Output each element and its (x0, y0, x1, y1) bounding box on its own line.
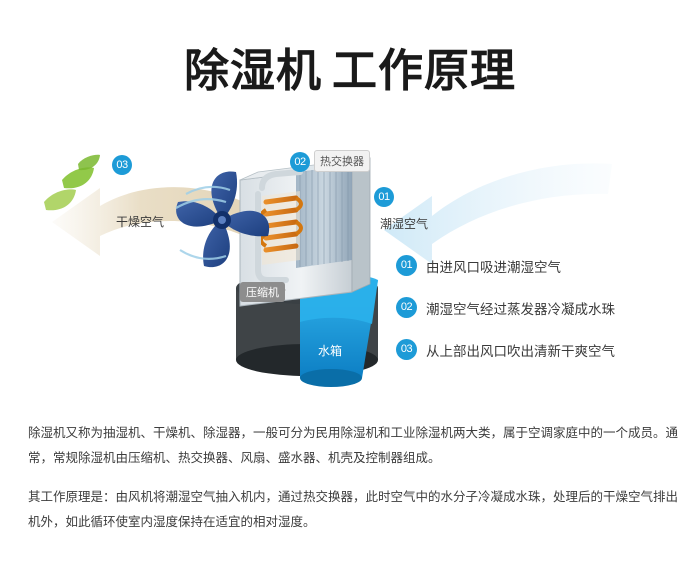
title-main: 除湿机 (184, 44, 322, 97)
step-badge-03: 03 (396, 339, 417, 360)
heat-exchanger (296, 160, 360, 268)
badge-03: 03 (112, 155, 132, 175)
page-title: 除湿机工作原理 (0, 34, 700, 99)
badge-02: 02 (290, 152, 310, 172)
label-compressor: 压缩机 (240, 282, 285, 302)
humid-air-arrow (384, 163, 612, 264)
step-badge-01: 01 (396, 255, 417, 276)
badge-01: 01 (374, 187, 394, 207)
title-sub: 工作原理 (332, 44, 516, 97)
paragraph-2: 其工作原理是：由风机将潮湿空气抽入机内，通过热交换器，此时空气中的水分子冷凝成水… (28, 484, 678, 534)
step-text-03: 从上部出风口吹出清新干爽空气 (426, 340, 615, 360)
paragraph-1: 除湿机又称为抽湿机、干燥机、除湿器，一般可分为民用除湿机和工业除湿机两大类，属于… (28, 420, 678, 470)
list-item: 01 由进风口吸进潮湿空气 (396, 255, 686, 276)
list-item: 02 潮湿空气经过蒸发器冷凝成水珠 (396, 297, 686, 318)
page-root: 除湿机工作原理 (0, 0, 700, 566)
step-list: 01 由进风口吸进潮湿空气 02 潮湿空气经过蒸发器冷凝成水珠 03 从上部出风… (396, 255, 686, 381)
label-heat-exchanger: 热交换器 (314, 150, 370, 172)
list-item: 03 从上部出风口吹出清新干爽空气 (396, 339, 686, 360)
step-text-01: 由进风口吸进潮湿空气 (426, 256, 561, 276)
label-dry-air: 干燥空气 (116, 213, 164, 230)
label-humid-air: 潮湿空气 (380, 215, 428, 232)
step-text-02: 潮湿空气经过蒸发器冷凝成水珠 (426, 298, 615, 318)
step-badge-02: 02 (396, 297, 417, 318)
label-water-tank: 水箱 (318, 342, 342, 359)
description-block: 除湿机又称为抽湿机、干燥机、除湿器，一般可分为民用除湿机和工业除湿机两大类，属于… (28, 420, 678, 534)
